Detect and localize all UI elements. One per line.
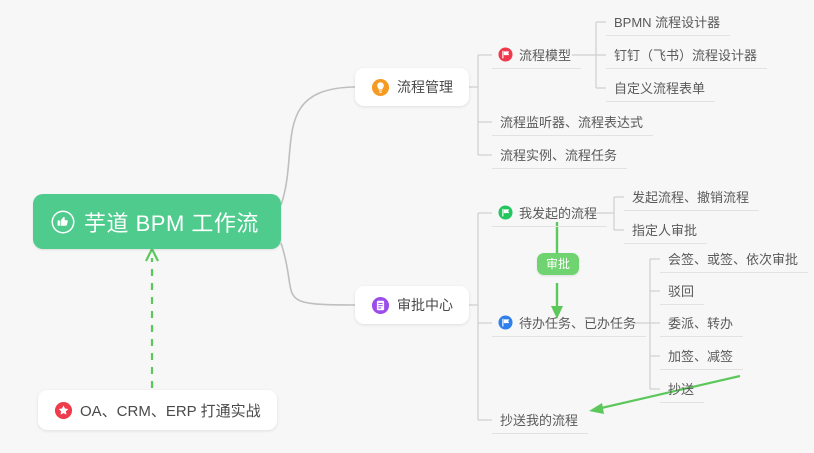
leaf-label: 指定人审批 bbox=[632, 220, 697, 239]
leaf-custom-form[interactable]: 自定义流程表单 bbox=[606, 74, 715, 102]
branch-node-approval-center[interactable]: 审批中心 bbox=[355, 286, 469, 324]
dashed-arrow-to-root bbox=[146, 249, 158, 388]
leaf-label: 发起流程、撤销流程 bbox=[632, 187, 749, 206]
thumbs-up-icon bbox=[51, 210, 75, 234]
leaf-label: 会签、或签、依次审批 bbox=[668, 249, 798, 268]
approve-tag[interactable]: 审批 bbox=[537, 253, 579, 275]
subnode-label: 抄送我的流程 bbox=[500, 410, 578, 429]
subnode-todo-done[interactable]: 待办任务、已办任务 bbox=[492, 309, 646, 337]
leaf-label: 驳回 bbox=[668, 281, 694, 300]
play-icon bbox=[498, 205, 513, 220]
leaf-countersign[interactable]: 会签、或签、依次审批 bbox=[660, 245, 808, 273]
star-icon bbox=[54, 401, 73, 420]
leaf-bpmn-designer[interactable]: BPMN 流程设计器 bbox=[606, 8, 730, 36]
leaf-label: 钉钉（飞书）流程设计器 bbox=[614, 45, 757, 64]
leaf-label: 自定义流程表单 bbox=[614, 78, 705, 97]
leaf-label: 抄送 bbox=[668, 379, 694, 398]
bottom-note-card[interactable]: OA、CRM、ERP 打通实战 bbox=[38, 390, 277, 430]
leaf-dingtalk-designer[interactable]: 钉钉（飞书）流程设计器 bbox=[606, 41, 767, 69]
subnode-label-process-model: 流程模型 bbox=[519, 45, 571, 64]
subnode-my-initiated[interactable]: 我发起的流程 bbox=[492, 199, 607, 227]
leaf-assigned-approver[interactable]: 指定人审批 bbox=[624, 216, 707, 244]
branch-label-approval-center: 审批中心 bbox=[397, 295, 453, 315]
root-label: 芋道 BPM 工作流 bbox=[84, 206, 259, 238]
flag-icon bbox=[498, 47, 513, 62]
lightbulb-icon bbox=[371, 78, 390, 97]
leaf-start-cancel-process[interactable]: 发起流程、撤销流程 bbox=[624, 183, 759, 211]
branch-label-process-management: 流程管理 bbox=[397, 77, 453, 97]
mindmap-canvas: 芋道 BPM 工作流 流程管理 流程模型 BPMN 流程设计器 钉钉（飞书）流程 bbox=[0, 0, 814, 453]
leaf-cc[interactable]: 抄送 bbox=[660, 375, 704, 403]
leaf-label: BPMN 流程设计器 bbox=[614, 12, 720, 31]
subnode-cc-to-me[interactable]: 抄送我的流程 bbox=[492, 406, 588, 434]
subnode-process-instance[interactable]: 流程实例、流程任务 bbox=[492, 141, 627, 169]
bottom-note-label: OA、CRM、ERP 打通实战 bbox=[80, 400, 261, 421]
subnode-label: 待办任务、已办任务 bbox=[519, 313, 636, 332]
flag-blue-icon bbox=[498, 315, 513, 330]
subnode-label: 流程实例、流程任务 bbox=[500, 145, 617, 164]
doc-icon bbox=[371, 296, 390, 315]
subnode-label: 我发起的流程 bbox=[519, 203, 597, 222]
leaf-label: 委派、转办 bbox=[668, 313, 733, 332]
subnode-process-model[interactable]: 流程模型 bbox=[492, 41, 581, 69]
subnode-label: 流程监听器、流程表达式 bbox=[500, 112, 643, 131]
branch-node-process-management[interactable]: 流程管理 bbox=[355, 68, 469, 106]
leaf-add-remove-sign[interactable]: 加签、减签 bbox=[660, 342, 743, 370]
leaf-label: 加签、减签 bbox=[668, 346, 733, 365]
root-node[interactable]: 芋道 BPM 工作流 bbox=[33, 194, 281, 249]
subnode-process-listener[interactable]: 流程监听器、流程表达式 bbox=[492, 108, 653, 136]
leaf-reject[interactable]: 驳回 bbox=[660, 277, 704, 305]
approve-tag-label: 审批 bbox=[546, 257, 570, 271]
leaf-delegate-transfer[interactable]: 委派、转办 bbox=[660, 309, 743, 337]
